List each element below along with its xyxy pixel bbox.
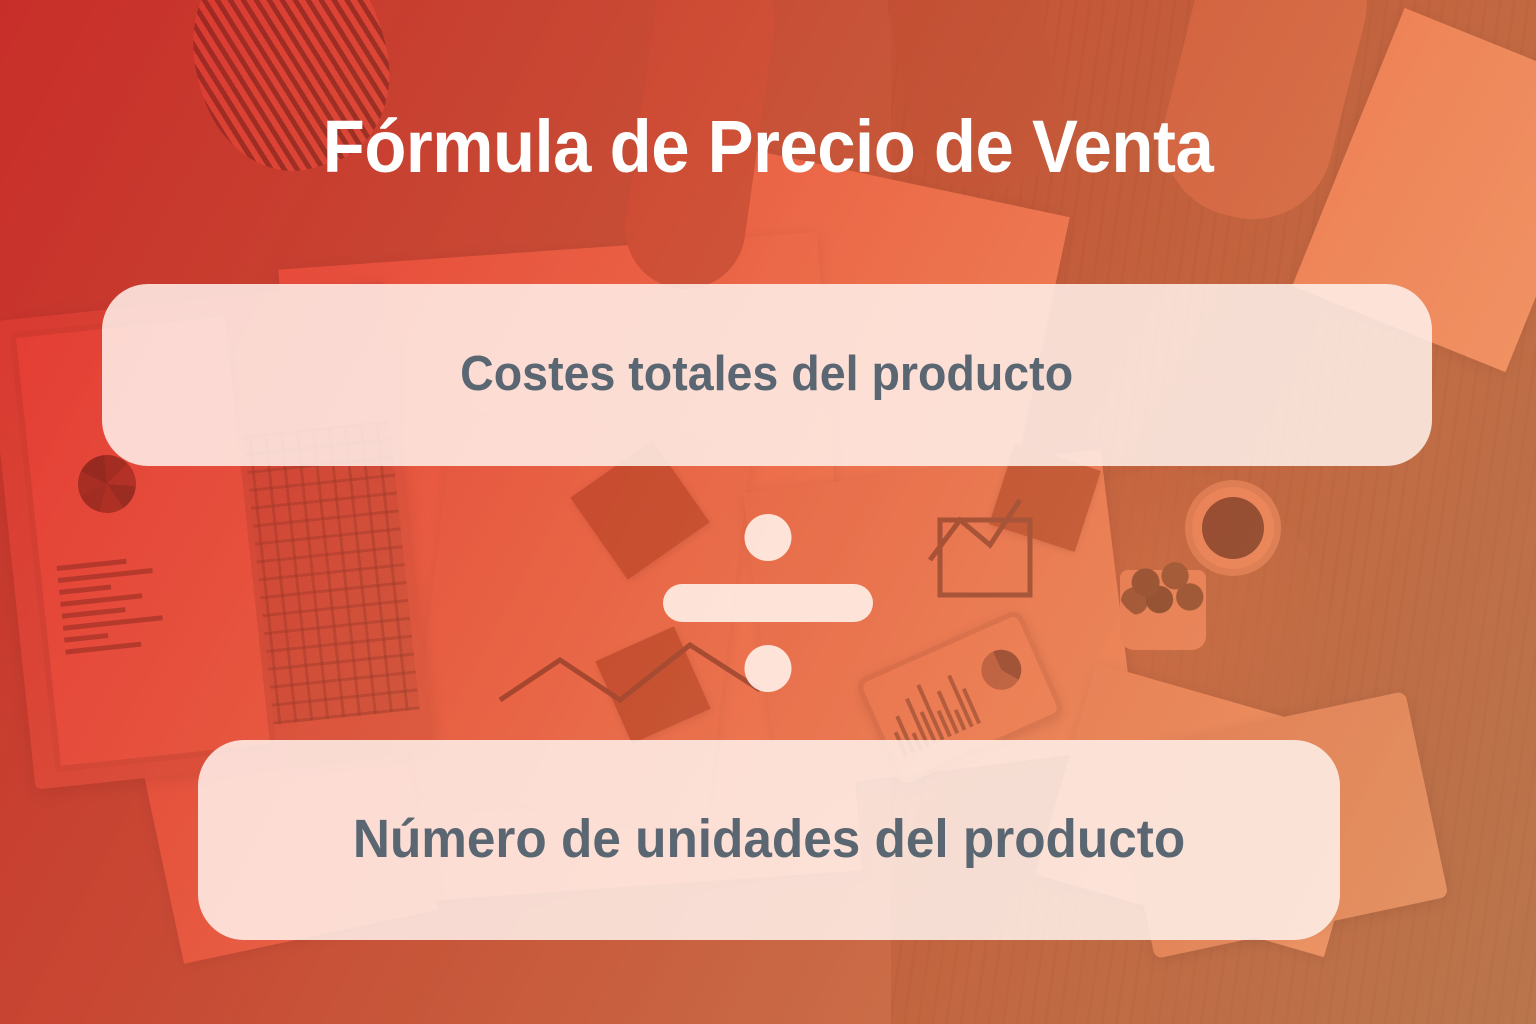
page-title: Fórmula de Precio de Venta [54, 108, 1482, 186]
denominator-box: Número de unidades del producto [198, 740, 1340, 940]
division-dot-bottom-icon [745, 645, 792, 692]
division-sign-icon [663, 508, 873, 698]
numerator-label: Costes totales del producto [460, 348, 1073, 402]
division-bar-icon [663, 584, 873, 622]
numerator-box: Costes totales del producto [102, 284, 1432, 466]
division-dot-top-icon [745, 514, 792, 561]
foreground-content: Fórmula de Precio de Venta Costes totale… [0, 0, 1536, 1024]
infographic-canvas: Fórmula de Precio de Venta Costes totale… [0, 0, 1536, 1024]
denominator-label: Número de unidades del producto [353, 810, 1185, 869]
